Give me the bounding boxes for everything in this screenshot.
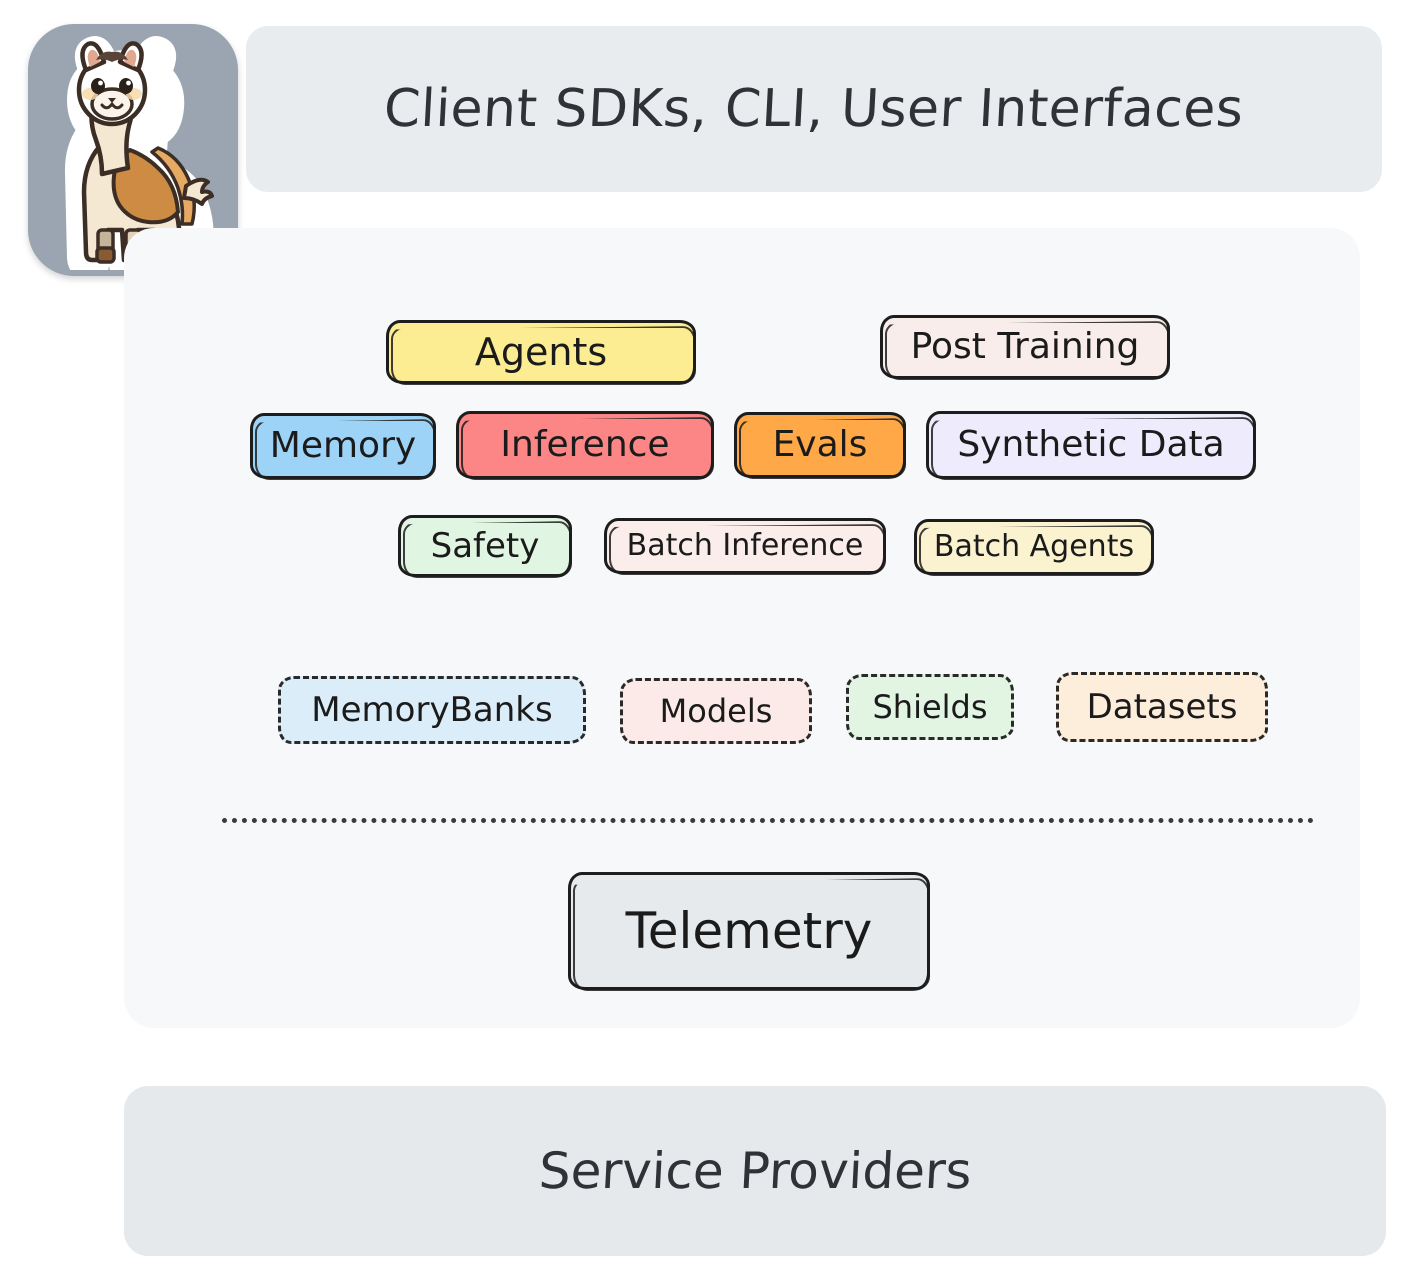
api-node-label: Safety [431, 529, 540, 563]
api-node-label: Evals [773, 427, 868, 463]
resource-node-label: Shields [872, 691, 987, 723]
client-interfaces-bar: Client SDKs, CLI, User Interfaces [246, 26, 1382, 192]
api-node-post-training[interactable]: Post Training [880, 315, 1170, 379]
service-providers-title: Service Providers [537, 1142, 973, 1200]
api-node-batch-agents[interactable]: Batch Agents [914, 519, 1154, 575]
api-node-agents[interactable]: Agents [386, 320, 696, 384]
api-node-evals[interactable]: Evals [734, 412, 906, 478]
client-interfaces-title: Client SDKs, CLI, User Interfaces [383, 79, 1246, 139]
resource-node-shields[interactable]: Shields [846, 674, 1014, 740]
api-node-inference[interactable]: Inference [456, 411, 714, 479]
telemetry-node[interactable]: Telemetry [568, 872, 930, 990]
resource-node-label: Models [660, 695, 773, 727]
api-node-synthetic-data[interactable]: Synthetic Data [926, 411, 1256, 479]
api-node-label: Batch Inference [627, 531, 864, 561]
resource-node-datasets[interactable]: Datasets [1056, 672, 1268, 742]
api-node-label: Post Training [911, 329, 1140, 365]
section-divider [222, 818, 1314, 823]
api-node-batch-inference[interactable]: Batch Inference [604, 518, 886, 574]
service-providers-bar: Service Providers [124, 1086, 1386, 1256]
api-node-label: Synthetic Data [957, 427, 1224, 463]
resource-node-label: MemoryBanks [311, 693, 552, 727]
api-node-safety[interactable]: Safety [398, 515, 572, 577]
diagram-canvas: Client SDKs, CLI, User Interfaces Agents… [0, 0, 1410, 1268]
telemetry-label: Telemetry [626, 906, 873, 956]
resource-node-models[interactable]: Models [620, 678, 812, 744]
api-node-label: Inference [500, 427, 669, 463]
api-node-memory[interactable]: Memory [250, 413, 436, 479]
resource-node-memorybanks[interactable]: MemoryBanks [278, 676, 586, 744]
api-node-label: Batch Agents [934, 532, 1134, 562]
api-node-label: Agents [475, 333, 607, 371]
resource-node-label: Datasets [1087, 690, 1238, 724]
api-node-label: Memory [270, 428, 416, 464]
